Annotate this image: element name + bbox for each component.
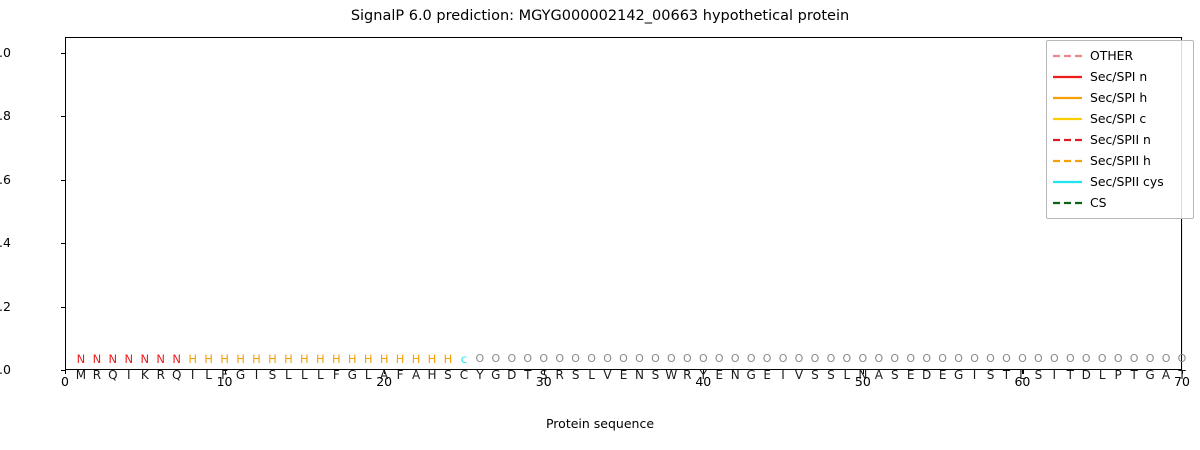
y-tick-label: 0.4 [0, 235, 11, 250]
y-tick-mark [61, 116, 65, 117]
x-axis-label: Protein sequence [0, 416, 1200, 431]
legend-swatch [1052, 196, 1083, 210]
y-tick-mark [61, 307, 65, 308]
legend-swatch [1052, 154, 1083, 168]
legend-item-sec-spii-n[interactable]: Sec/SPII n [1052, 129, 1188, 150]
legend-item-sec-spi-c[interactable]: Sec/SPI c [1052, 108, 1188, 129]
y-tick-label: 0.2 [0, 299, 11, 314]
legend-item-cs[interactable]: CS [1052, 192, 1188, 213]
y-tick-label: 0.0 [0, 362, 11, 377]
y-tick-label: 0.6 [0, 172, 11, 187]
legend-swatch [1052, 91, 1083, 105]
legend-label: Sec/SPI n [1090, 69, 1147, 84]
legend-label: Sec/SPII n [1090, 132, 1151, 147]
legend-swatch [1052, 112, 1083, 126]
chart-legend: OTHERSec/SPI nSec/SPI hSec/SPI cSec/SPII… [1046, 40, 1194, 219]
y-tick-label: 0.8 [0, 108, 11, 123]
legend-label: CS [1090, 195, 1107, 210]
plot-border [65, 37, 1182, 370]
legend-swatch [1052, 133, 1083, 147]
legend-swatch [1052, 70, 1083, 84]
legend-item-sec-spii-h[interactable]: Sec/SPII h [1052, 150, 1188, 171]
legend-item-other[interactable]: OTHER [1052, 45, 1188, 66]
y-tick-label: 1.0 [0, 45, 11, 60]
region-label: O [1167, 352, 1197, 365]
legend-label: OTHER [1090, 48, 1133, 63]
legend-label: Sec/SPII cys [1090, 174, 1164, 189]
legend-item-sec-spi-n[interactable]: Sec/SPI n [1052, 66, 1188, 87]
chart-title: SignalP 6.0 prediction: MGYG000002142_00… [0, 8, 1200, 24]
plot-area [65, 37, 1182, 370]
legend-label: Sec/SPI c [1090, 111, 1146, 126]
y-tick-mark [61, 53, 65, 54]
signalp-figure: SignalP 6.0 prediction: MGYG000002142_00… [0, 0, 1200, 450]
y-axis-label: Probability [2, 0, 20, 36]
legend-swatch [1052, 175, 1083, 189]
y-tick-mark [61, 243, 65, 244]
legend-swatch [1052, 49, 1083, 63]
legend-label: Sec/SPII h [1090, 153, 1151, 168]
legend-label: Sec/SPI h [1090, 90, 1147, 105]
legend-item-sec-spi-h[interactable]: Sec/SPI h [1052, 87, 1188, 108]
legend-item-sec-spii-cys[interactable]: Sec/SPII cys [1052, 171, 1188, 192]
y-tick-mark [61, 180, 65, 181]
residue-label: T [1167, 368, 1197, 382]
